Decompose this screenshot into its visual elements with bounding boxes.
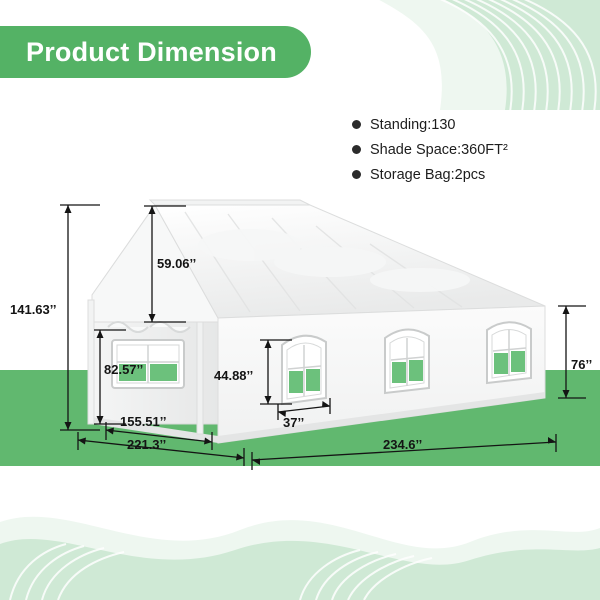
dim-label-front-door-height: 82.57’’ (104, 362, 143, 377)
dim-label-side-depth: 221.3’’ (127, 437, 166, 452)
dim-label-overall-height: 141.63’’ (10, 302, 57, 317)
dim-label-front-width: 155.51’’ (120, 414, 167, 429)
product-dimension-graphic: Product Dimension Standing:130 Shade Spa… (0, 0, 600, 600)
dim-label-roof-peak-height: 59.06’’ (157, 256, 196, 271)
dim-label-side-wall-height: 76’’ (571, 357, 592, 372)
dim-label-side-window-width: 37’’ (283, 415, 304, 430)
tent-illustration: 141.63’’ 59.06’’ 82.57’’ 155.51’’ 221.3’… (0, 0, 600, 600)
dim-label-side-length: 234.6’’ (383, 437, 422, 452)
dim-label-side-window-height: 44.88’’ (214, 368, 253, 383)
